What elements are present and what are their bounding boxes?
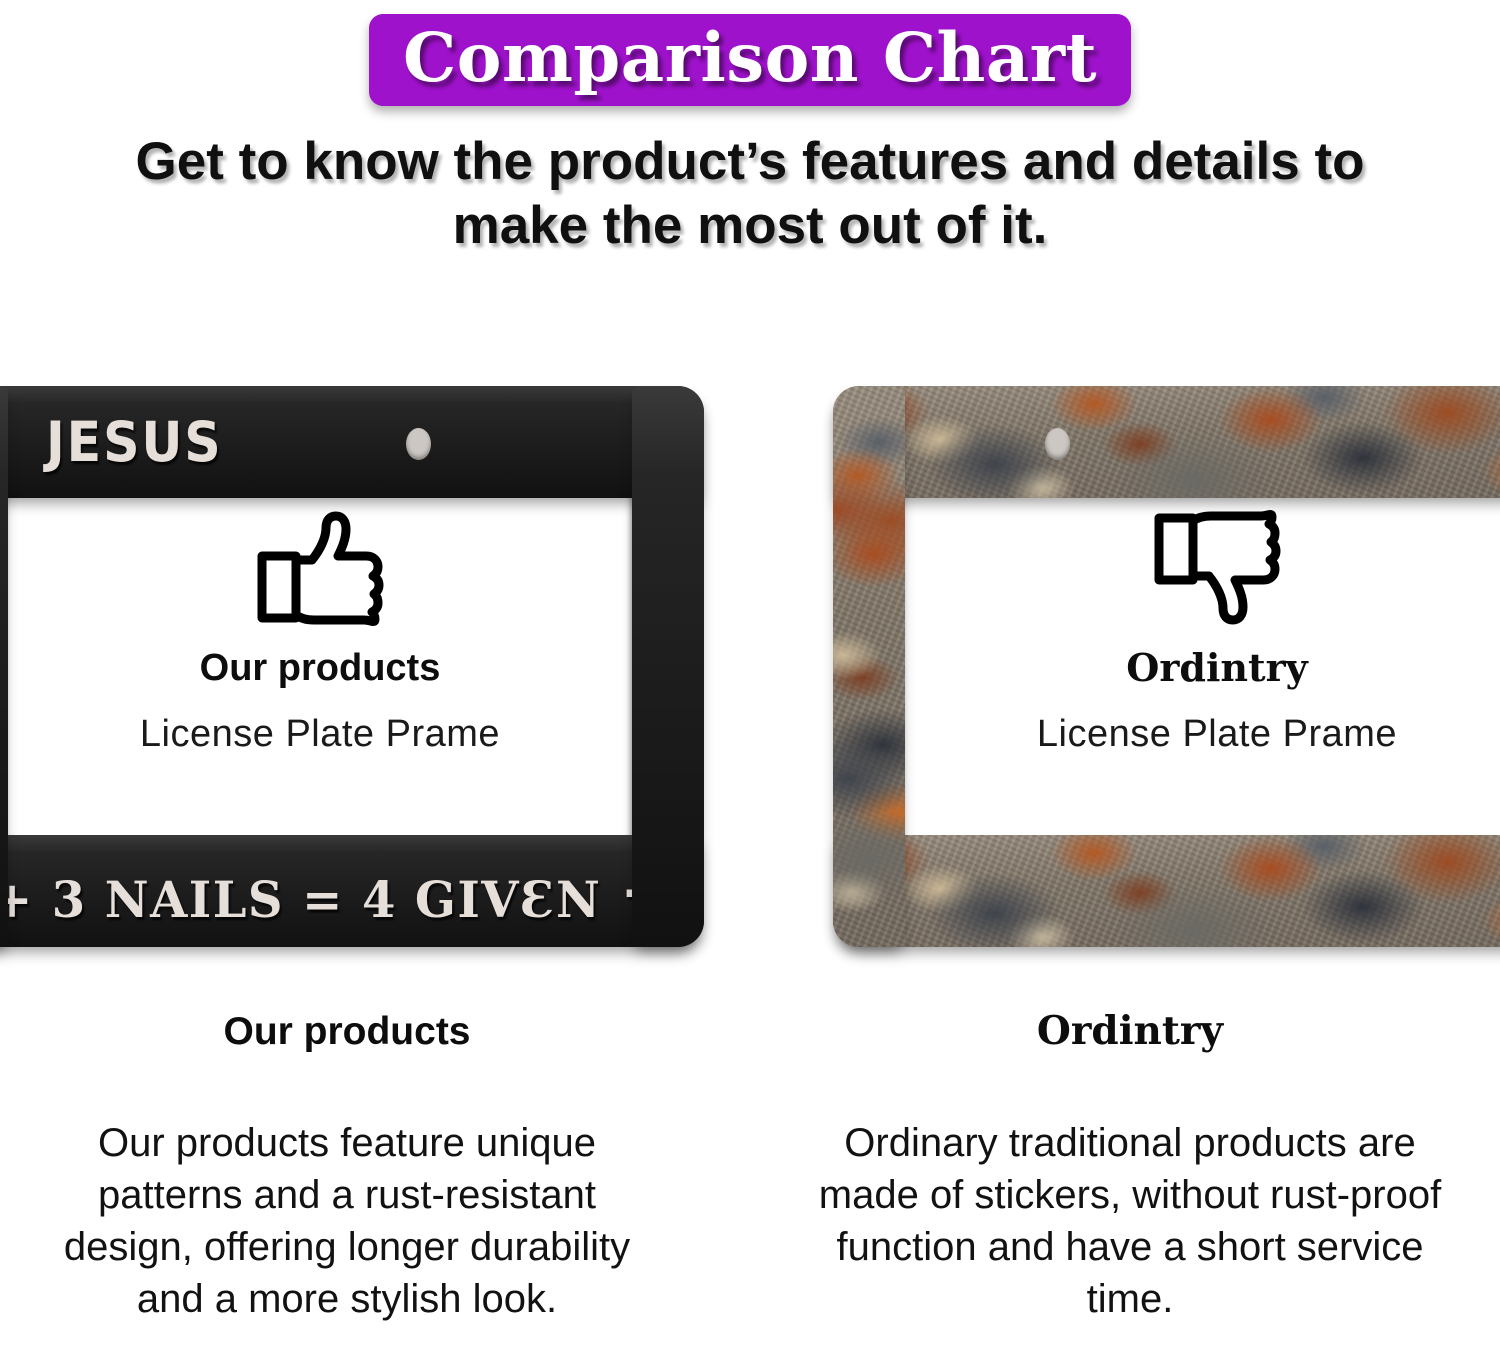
our-product-description: Our products feature unique patterns and… xyxy=(0,1117,707,1325)
plate-left-bar-left xyxy=(0,386,8,947)
page-subtitle: Get to know the product’s features and d… xyxy=(130,130,1370,257)
plate-top-bar-left: JESUS xyxy=(0,386,704,498)
page-title: Comparison Chart xyxy=(403,24,1097,92)
ordinary-product-plate-frame: Ordintry License Plate Prame xyxy=(833,378,1500,953)
frame-bottom-engraving-left: + 3 NAILS = 4 GIVƐN ✝ xyxy=(0,870,661,929)
plate-right-bar-left xyxy=(632,386,704,947)
ordinary-product-heading: Ordintry xyxy=(770,1012,1490,1051)
title-banner: Comparison Chart xyxy=(369,14,1131,106)
mounting-hole-icon xyxy=(1045,428,1070,460)
our-product-column: Our products Our products feature unique… xyxy=(0,1012,707,1325)
thumbs-down-icon xyxy=(1153,508,1281,633)
our-product-heading: Our products xyxy=(0,1012,707,1051)
plate-bottom-bar-right xyxy=(833,835,1500,947)
description-columns: Our products Our products feature unique… xyxy=(0,1012,1500,1364)
product-frames-row: Our products License Plate Prame JESUS +… xyxy=(0,378,1500,958)
plate-bottom-bar-left: + 3 NAILS = 4 GIVƐN ✝ xyxy=(0,835,704,947)
plate-top-bar-right xyxy=(833,386,1500,498)
page-header: Comparison Chart Get to know the product… xyxy=(0,0,1500,258)
our-product-type: License Plate Prame xyxy=(140,715,500,753)
ordinary-product-description: Ordinary traditional products are made o… xyxy=(770,1117,1490,1325)
mounting-hole-icon xyxy=(406,428,431,460)
our-product-plate-frame: Our products License Plate Prame JESUS +… xyxy=(0,378,704,953)
thumbs-up-icon xyxy=(256,508,384,633)
plate-left-bar-right xyxy=(833,386,905,947)
ordinary-product-verdict: Ordintry xyxy=(1126,649,1307,687)
our-product-verdict: Our products xyxy=(200,649,441,687)
frame-top-engraving-left: JESUS xyxy=(46,410,223,474)
ordinary-product-type: License Plate Prame xyxy=(1037,715,1397,753)
ordinary-product-column: Ordintry Ordinary traditional products a… xyxy=(770,1012,1490,1325)
